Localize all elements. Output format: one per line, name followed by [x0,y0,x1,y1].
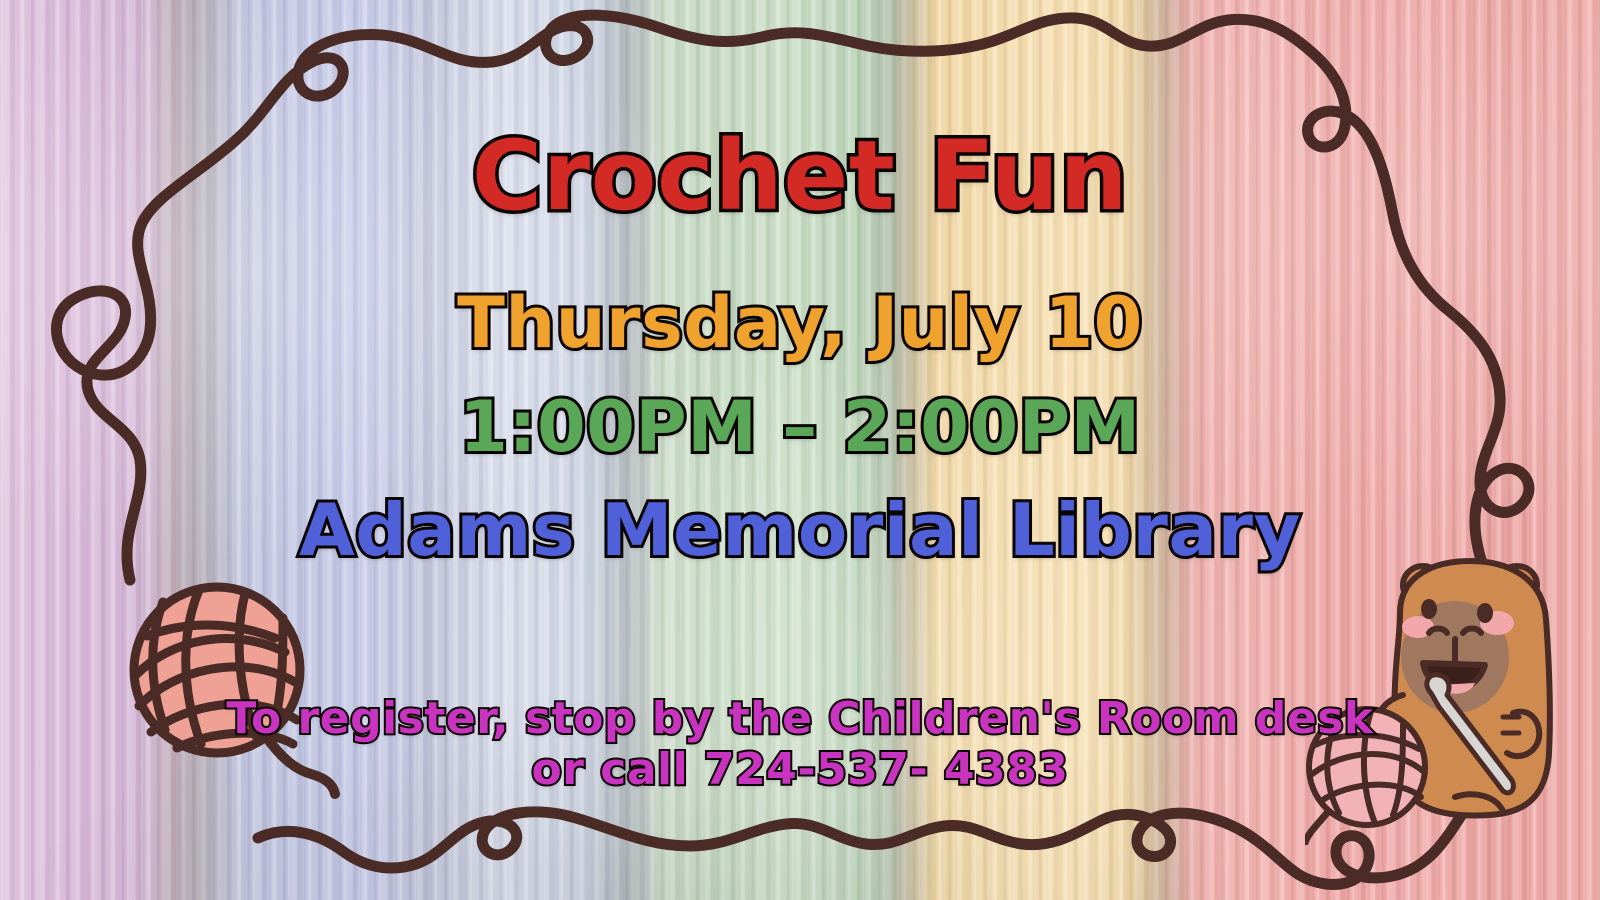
registration-line-1: To register, stop by the Children's Room… [226,693,1373,744]
registration-line-2: or call 724-537- 4383 [0,745,1600,796]
poster-canvas: Crochet Fun Thursday, July 10 1:00PM – 2… [0,0,1600,900]
event-date: Thursday, July 10 [0,288,1600,358]
event-venue: Adams Memorial Library [0,494,1600,566]
capybara-mascot-illustration [1305,535,1595,845]
page-title: Crochet Fun [0,128,1600,224]
registration-info: To register, stop by the Children's Room… [0,694,1600,795]
event-time: 1:00PM – 2:00PM [0,392,1600,462]
